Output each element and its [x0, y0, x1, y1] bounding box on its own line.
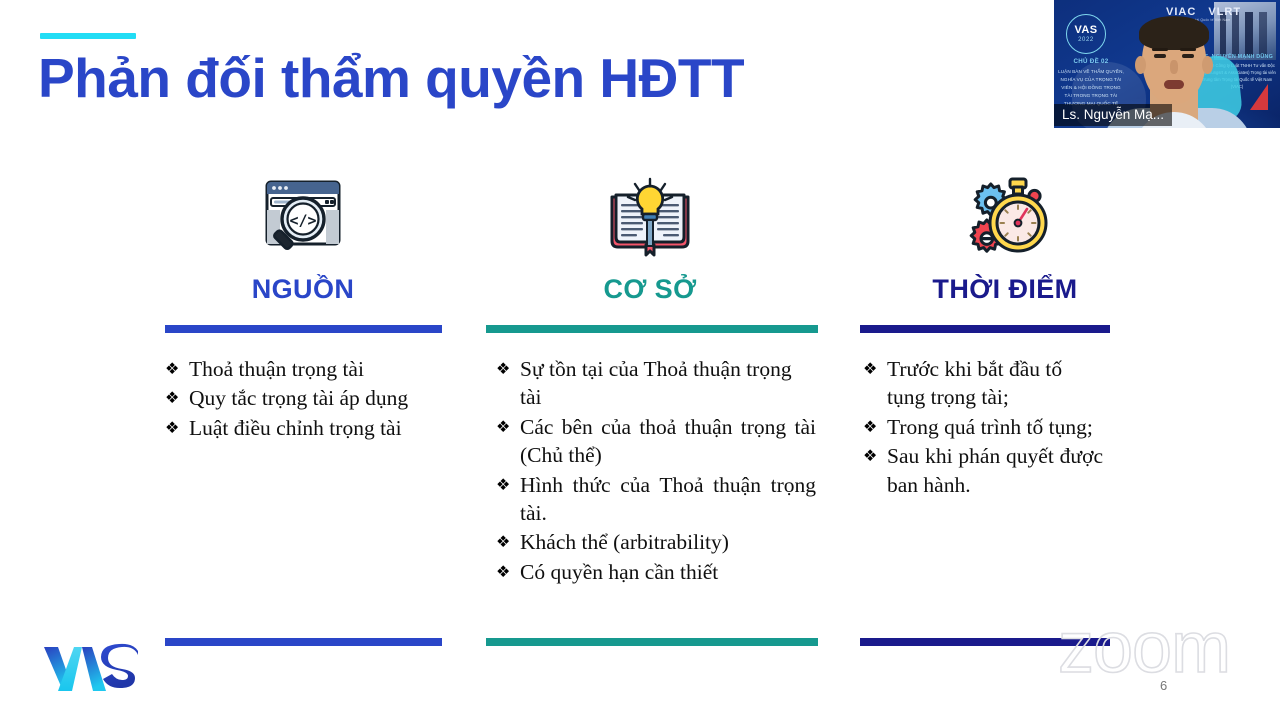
bullet-diamond-icon: ❖	[496, 413, 520, 441]
browser-code-search-icon: </>	[143, 170, 463, 270]
column-rule-top-thoidiem	[860, 325, 1110, 333]
bullet-diamond-icon: ❖	[863, 355, 887, 383]
page-number: 6	[1160, 678, 1167, 693]
list-item: ❖ Sau khi phán quyết được ban hành.	[863, 442, 1103, 499]
column-nguon: </> NGUỒN ❖ Thoả thuận trọng tài ❖ Quy t…	[143, 170, 463, 443]
page-title: Phản đối thẩm quyền HĐTT	[38, 48, 744, 109]
svg-text:</>: </>	[289, 212, 316, 230]
list-item-text: Trong quá trình tố tụng;	[887, 413, 1103, 441]
avatar-brow-right	[1180, 48, 1196, 51]
stopwatch-gears-icon	[845, 170, 1165, 270]
bullet-diamond-icon: ❖	[496, 528, 520, 556]
avatar-hair	[1139, 16, 1209, 50]
list-item: ❖ Có quyền hạn cần thiết	[496, 558, 816, 586]
list-item-text: Hình thức của Thoả thuận trọng tài.	[520, 471, 816, 528]
list-item-text: Các bên của thoả thuận trọng tài (Chủ th…	[520, 413, 816, 470]
bullet-diamond-icon: ❖	[165, 414, 189, 442]
zoom-watermark: zoom	[1058, 612, 1230, 684]
column-rule-bottom-nguon	[165, 638, 442, 646]
three-column-layout: </> NGUỒN ❖ Thoả thuận trọng tài ❖ Quy t…	[0, 170, 1280, 650]
column-heading-coso: CƠ SỞ	[490, 274, 810, 305]
bullet-list-nguon: ❖ Thoả thuận trọng tài ❖ Quy tắc trọng t…	[165, 355, 423, 442]
list-item: ❖ Trước khi bắt đầu tố tụng trọng tài;	[863, 355, 1103, 412]
list-item-text: Trước khi bắt đầu tố tụng trọng tài;	[887, 355, 1103, 412]
title-accent-line	[40, 33, 136, 39]
list-item: ❖ Thoả thuận trọng tài	[165, 355, 423, 383]
list-item: ❖ Khách thể (arbitrability)	[496, 528, 816, 556]
open-book-lightbulb-icon	[490, 170, 810, 270]
bullet-diamond-icon: ❖	[863, 442, 887, 470]
list-item-text: Sau khi phán quyết được ban hành.	[887, 442, 1103, 499]
column-rule-top-nguon	[165, 325, 442, 333]
bullet-list-coso: ❖ Sự tồn tại của Thoả thuận trọng tài ❖ …	[496, 355, 816, 586]
column-rule-bottom-coso	[486, 638, 818, 646]
participant-video-tile[interactable]: VIAC VLRT Trung tâm Trọng tài Quốc tế Vi…	[1054, 0, 1280, 128]
avatar-mouth	[1164, 80, 1184, 89]
column-heading-thoidiem: THỜI ĐIỂM	[845, 274, 1165, 305]
list-item: ❖ Hình thức của Thoả thuận trọng tài.	[496, 471, 816, 528]
participant-name-label: Ls. Nguyễn Mạ...	[1054, 104, 1172, 126]
list-item: ❖ Trong quá trình tố tụng;	[863, 413, 1103, 441]
list-item: ❖ Luật điều chỉnh trọng tài	[165, 414, 423, 442]
vas-badge-year: 2022	[1078, 37, 1094, 43]
list-item-text: Khách thể (arbitrability)	[520, 528, 816, 556]
avatar-ear-left	[1135, 56, 1146, 74]
list-item-text: Thoả thuận trọng tài	[189, 355, 423, 383]
column-thoidiem: THỜI ĐIỂM ❖ Trước khi bắt đầu tố tụng tr…	[845, 170, 1165, 500]
list-item-text: Có quyền hạn cần thiết	[520, 558, 816, 586]
bullet-diamond-icon: ❖	[496, 558, 520, 586]
list-item: ❖ Các bên của thoả thuận trọng tài (Chủ …	[496, 413, 816, 470]
bullet-diamond-icon: ❖	[165, 355, 189, 383]
list-item-text: Quy tắc trọng tài áp dụng	[189, 384, 423, 412]
avatar-nose	[1170, 60, 1178, 74]
avatar-brow-left	[1152, 48, 1168, 51]
column-rule-top-coso	[486, 325, 818, 333]
list-item-text: Sự tồn tại của Thoả thuận trọng tài	[520, 355, 816, 412]
bullet-diamond-icon: ❖	[496, 355, 520, 383]
bullet-list-thoidiem: ❖ Trước khi bắt đầu tố tụng trọng tài; ❖…	[863, 355, 1103, 499]
topic-label: CHỦ ĐỀ 02	[1060, 58, 1122, 65]
list-item-text: Luật điều chỉnh trọng tài	[189, 414, 423, 442]
bullet-diamond-icon: ❖	[165, 384, 189, 412]
list-item: ❖ Sự tồn tại của Thoả thuận trọng tài	[496, 355, 816, 412]
list-item: ❖ Quy tắc trọng tài áp dụng	[165, 384, 423, 412]
slide-canvas: Phản đối thẩm quyền HĐTT	[0, 0, 1280, 720]
vas-logo	[42, 643, 142, 695]
column-coso: CƠ SỞ ❖ Sự tồn tại của Thoả thuận trọng …	[490, 170, 810, 587]
bullet-diamond-icon: ❖	[863, 413, 887, 441]
avatar-eye-right	[1182, 54, 1194, 58]
topic-description: LUẬN BÀN VỀ THẨM QUYỀN, NGHĨA VỤ CỦA TRỌ…	[1057, 68, 1125, 107]
avatar-ear-right	[1202, 56, 1213, 74]
vas-badge-title: VAS	[1074, 25, 1097, 36]
column-heading-nguon: NGUỒN	[143, 274, 463, 305]
bullet-diamond-icon: ❖	[496, 471, 520, 499]
vas-badge: VAS 2022	[1066, 14, 1106, 54]
avatar-eye-left	[1154, 54, 1166, 58]
